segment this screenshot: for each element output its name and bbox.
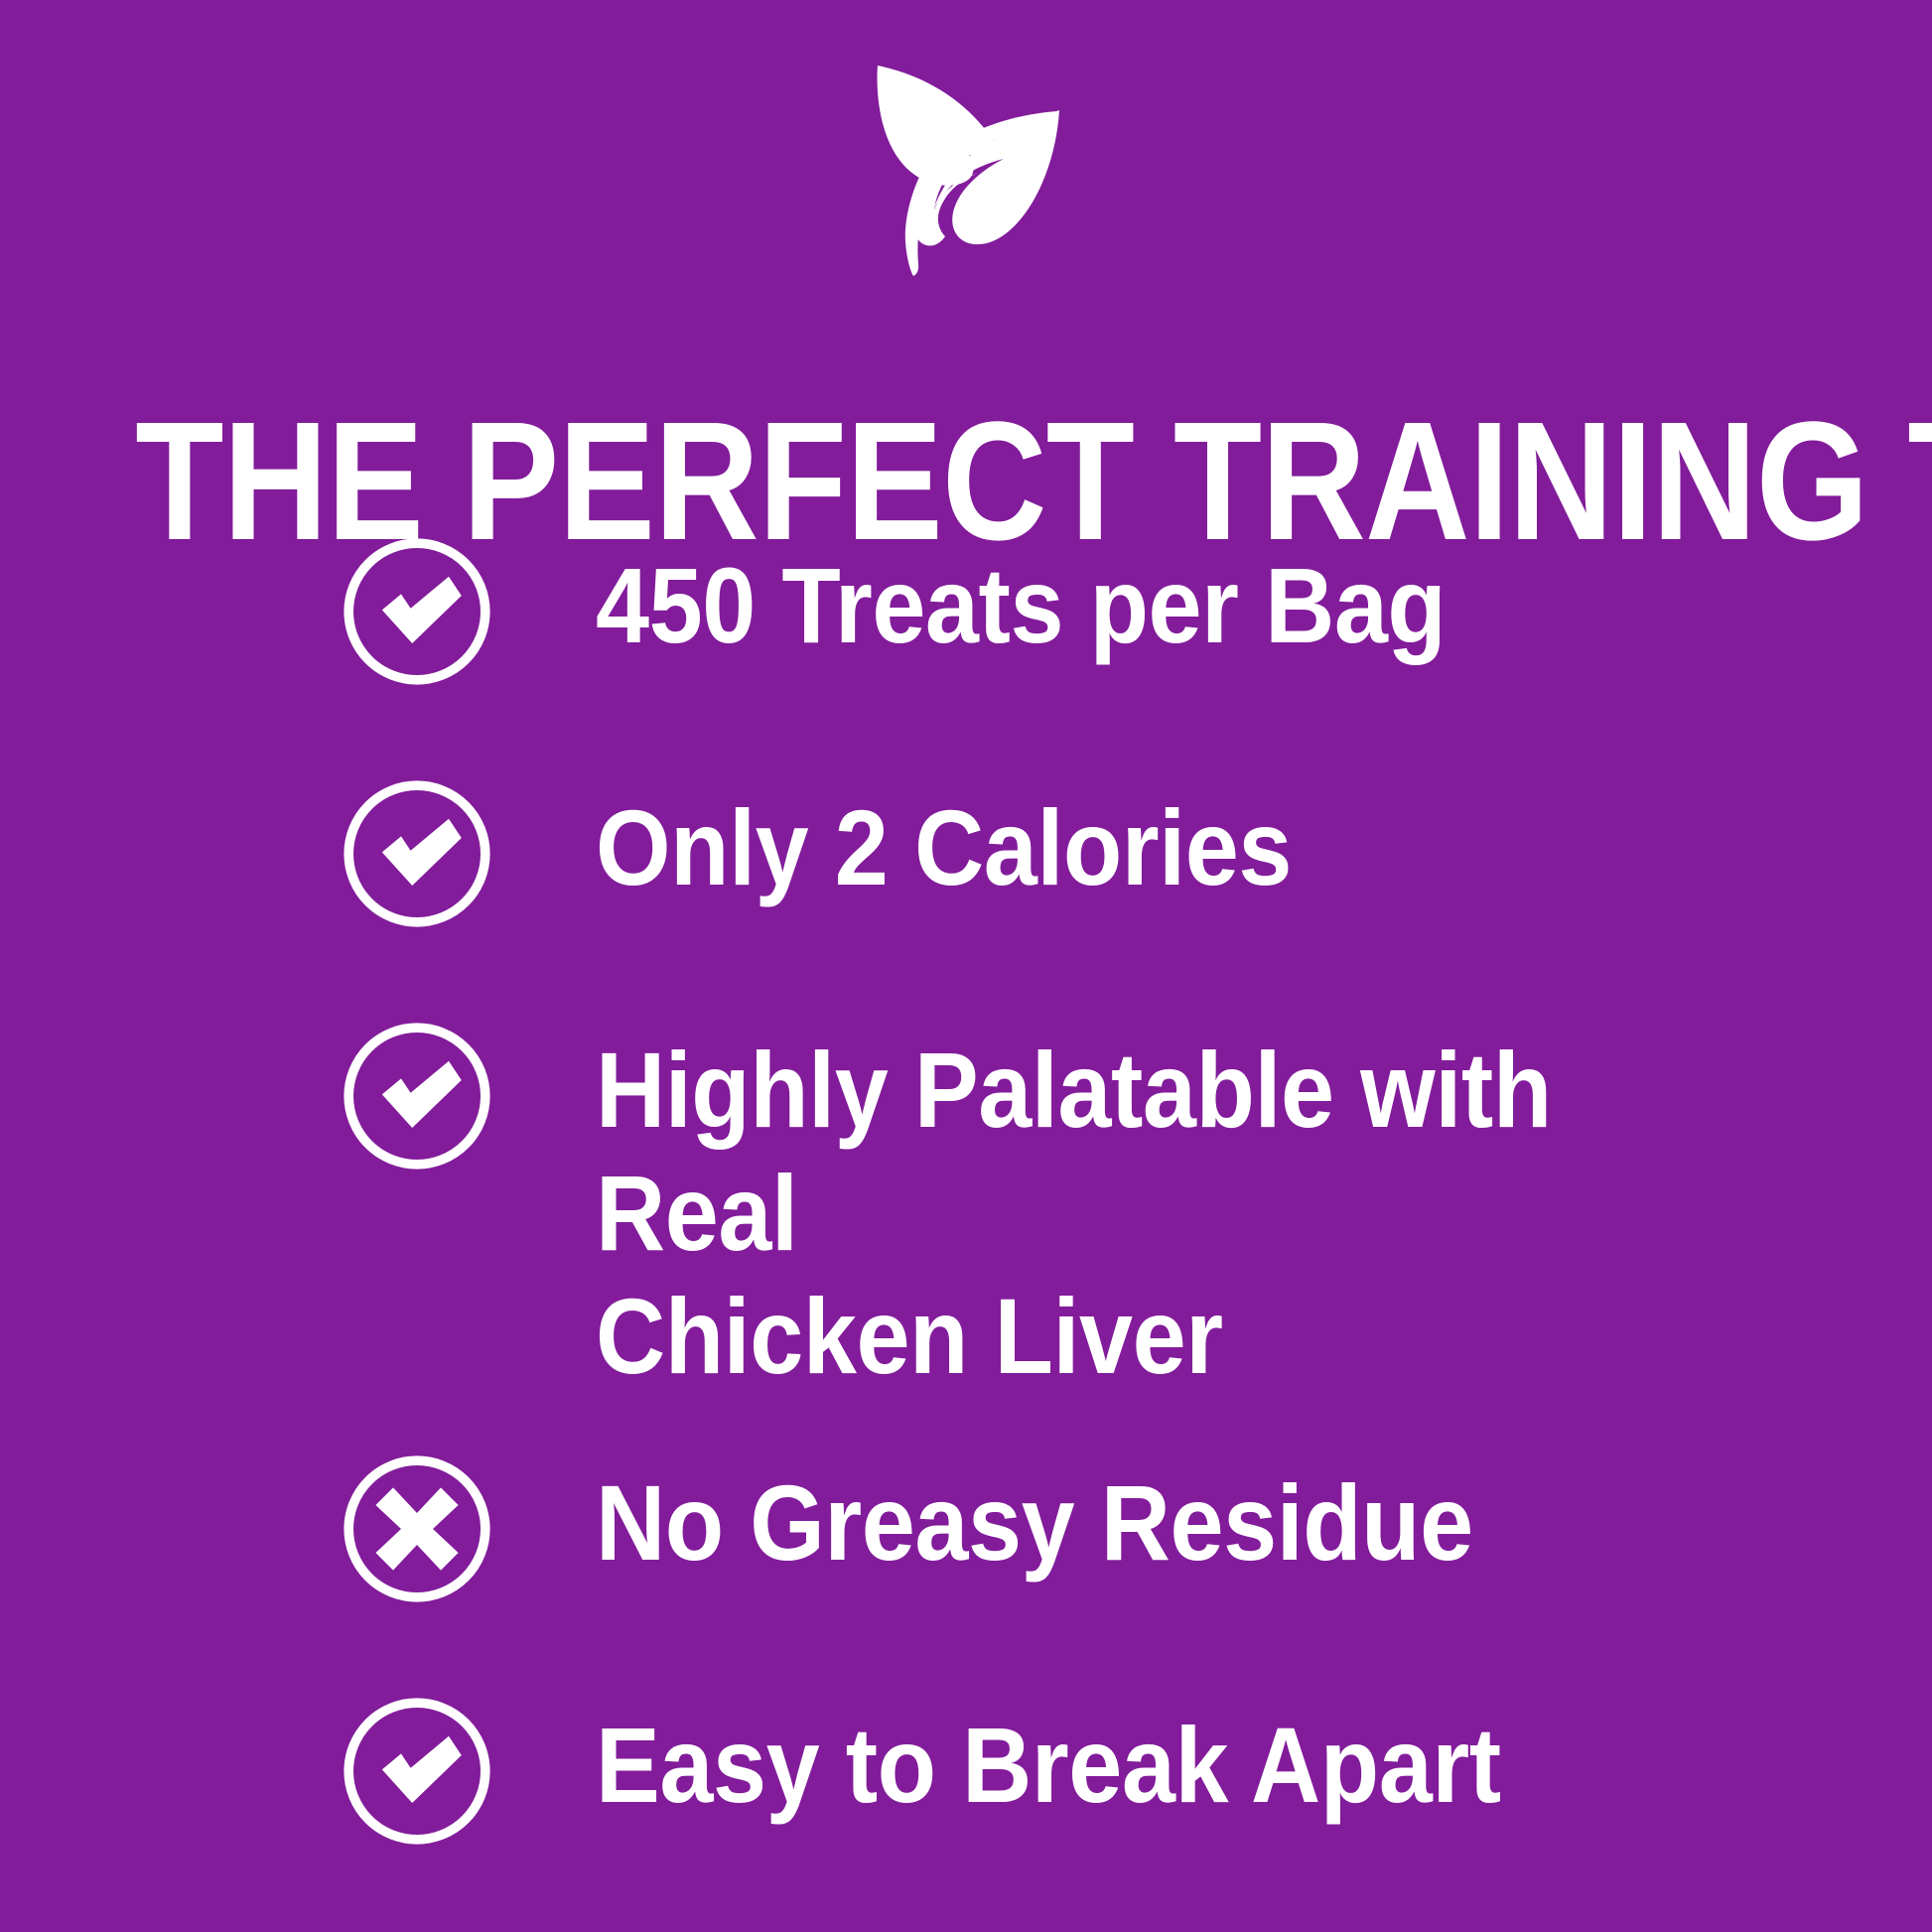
list-item-label: Highly Palatable with Real Chicken Liver <box>596 1017 1757 1398</box>
list-item: No Greasy Residue <box>338 1449 1886 1608</box>
check-circle-icon <box>338 1692 496 1851</box>
list-item: Highly Palatable with Real Chicken Liver <box>338 1017 1886 1398</box>
check-circle-icon <box>338 532 496 691</box>
check-circle-icon <box>338 774 496 933</box>
feature-list: 450 Treats per Bag Only 2 Calories Highl… <box>338 532 1886 1932</box>
list-item-label: Only 2 Calories <box>596 774 1292 909</box>
list-item: Only 2 Calories <box>338 774 1886 933</box>
list-item: 450 Treats per Bag <box>338 532 1886 691</box>
x-circle-icon <box>338 1449 496 1608</box>
brand-logo <box>0 38 1932 286</box>
list-item-label: 450 Treats per Bag <box>596 532 1446 667</box>
check-circle-icon <box>338 1017 496 1175</box>
list-item-label: No Greasy Residue <box>596 1449 1473 1585</box>
list-item-label: Easy to Break Apart <box>596 1692 1501 1827</box>
list-item: Easy to Break Apart <box>338 1692 1886 1851</box>
promo-poster: THE PERFECT TRAINING TREAT 450 Treats pe… <box>0 0 1932 1932</box>
two-leaves-icon <box>842 38 1090 286</box>
